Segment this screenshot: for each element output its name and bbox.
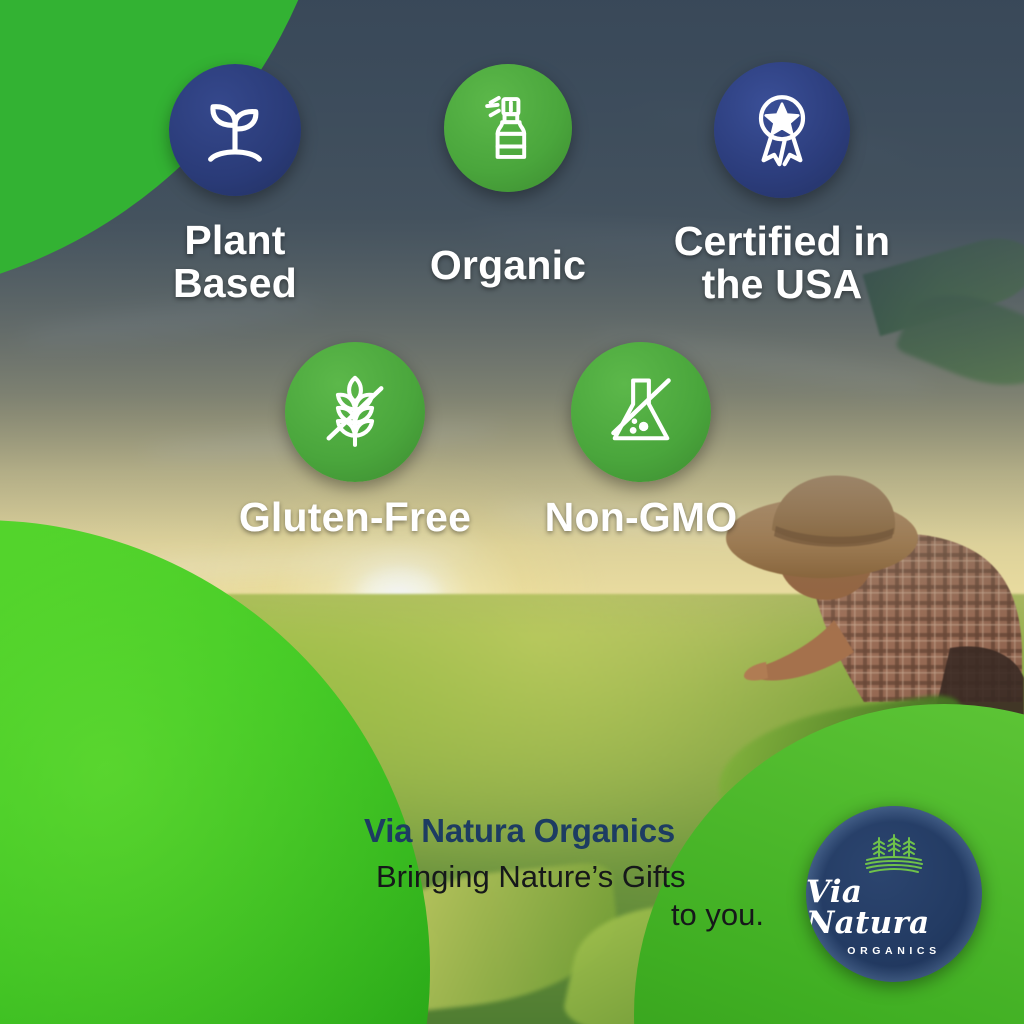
logo-script-text: Via Natura <box>806 877 982 939</box>
green-arc-bottom-left <box>0 520 430 1024</box>
tagline-line-1: Bringing Nature’s Gifts <box>364 858 764 896</box>
badge-circle <box>714 62 850 198</box>
badge-circle <box>571 342 711 482</box>
badge-label: Certified in the USA <box>637 220 927 307</box>
badge-circle <box>444 64 572 192</box>
tagline: Bringing Nature’s Gifts to you. <box>364 858 764 934</box>
badge-label: Plant Based <box>140 219 330 306</box>
brand-name: Via Natura Organics <box>364 812 784 850</box>
wheat-crossed-icon <box>313 370 397 454</box>
badge-label: Gluten-Free <box>210 496 500 539</box>
badge-circle <box>169 64 301 196</box>
logo-badge[interactable]: Via Natura ORGANICS <box>806 806 982 982</box>
sprout-icon <box>196 91 274 169</box>
promo-graphic: Plant Based <box>0 0 1024 1024</box>
plants-field-icon <box>861 832 927 874</box>
spray-bottle-icon <box>471 91 545 165</box>
badge-circle <box>285 342 425 482</box>
tagline-line-2: to you. <box>364 896 764 934</box>
badge-label: Non-GMO <box>516 496 766 539</box>
flask-crossed-icon <box>599 370 683 454</box>
badge-label: Organic <box>398 244 618 287</box>
award-ribbon-icon <box>740 88 824 172</box>
logo-subtitle: ORGANICS <box>847 945 940 957</box>
